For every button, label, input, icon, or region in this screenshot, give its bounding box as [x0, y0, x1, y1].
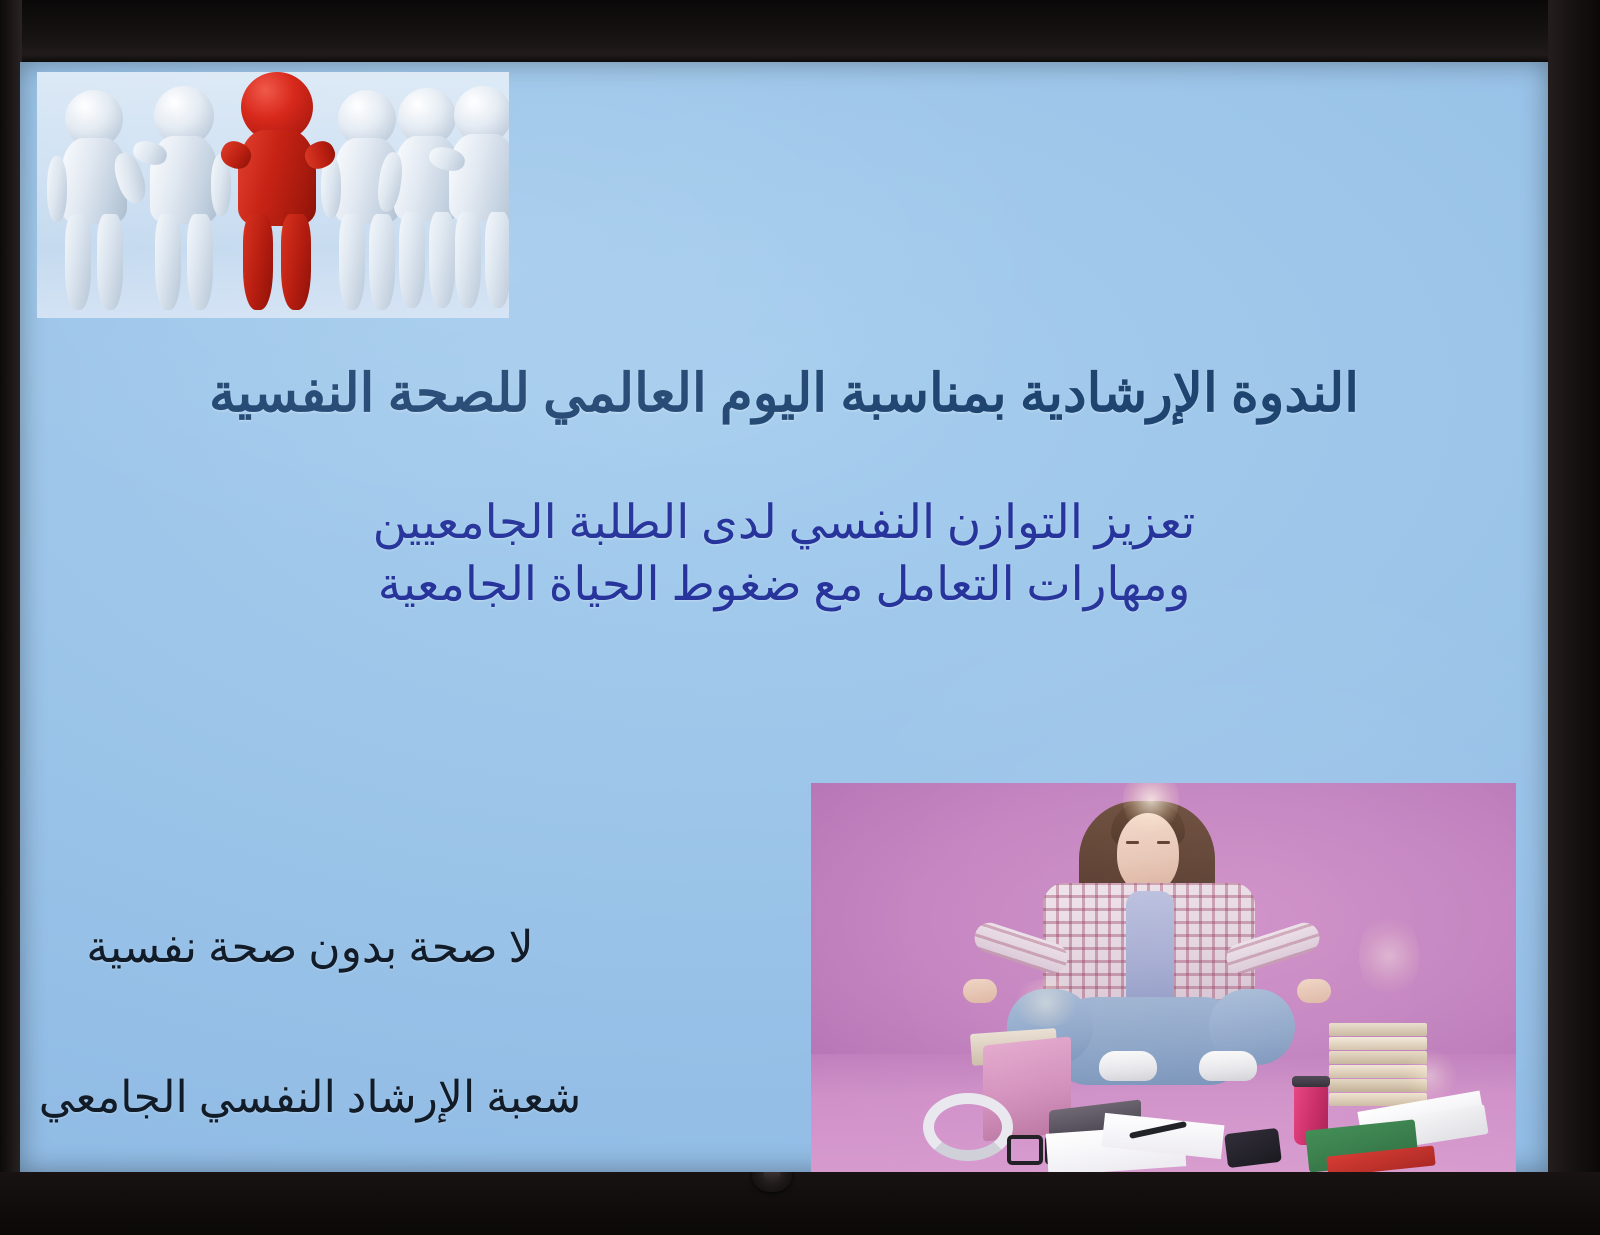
- title-block: الندوة الإرشادية بمناسبة اليوم العالمي ل…: [20, 362, 1548, 427]
- crowd-figure-highlight-red: [227, 72, 327, 312]
- book: [1329, 1037, 1427, 1050]
- book: [1329, 1065, 1427, 1078]
- figure-leg: [65, 214, 91, 310]
- slide-title: الندوة الإرشادية بمناسبة اليوم العالمي ل…: [110, 362, 1458, 427]
- book: [1329, 1079, 1427, 1092]
- subtitle-block: تعزيز التوازن النفسي لدى الطلبة الجامعيي…: [20, 492, 1548, 616]
- figure-torso: [449, 134, 509, 222]
- department-text: شعبة الإرشاد النفسي الجامعي: [20, 1072, 600, 1123]
- figure-leg: [281, 214, 311, 310]
- glasses-lens-left: [1007, 1135, 1043, 1165]
- figure-leg: [399, 212, 425, 308]
- presentation-slide: الندوة الإرشادية بمناسبة اليوم العالمي ل…: [20, 62, 1548, 1172]
- crowd-figure-grey: [441, 86, 509, 312]
- dark-room-background: الندوة الإرشادية بمناسبة اليوم العالمي ل…: [0, 0, 1600, 1235]
- woman-shoe-left: [1099, 1051, 1157, 1081]
- woman-hand-left: [963, 979, 997, 1003]
- screen-bezel-top: [0, 0, 1600, 62]
- woman-face: [1117, 813, 1179, 893]
- woman-eye-right: [1157, 841, 1170, 844]
- crowd-standout-figure-image: [37, 72, 509, 318]
- screen-bezel-right: [1548, 0, 1600, 1235]
- subtitle-line-1: تعزيز التوازن النفسي لدى الطلبة الجامعيي…: [170, 492, 1398, 554]
- subtitle-line-2: ومهارات التعامل مع ضغوط الحياة الجامعية: [170, 554, 1398, 616]
- figure-leg: [339, 214, 365, 310]
- headphones: [923, 1093, 1013, 1161]
- figure-leg: [187, 214, 213, 310]
- woman-eye-left: [1126, 841, 1139, 844]
- book: [1329, 1023, 1427, 1036]
- figure-arm: [47, 156, 67, 222]
- crowd-figure-grey: [141, 86, 227, 312]
- figure-leg: [455, 212, 481, 308]
- books-stack-right: [1329, 1023, 1427, 1111]
- screen-bezel-bottom: [0, 1172, 1600, 1235]
- woman-tank-top: [1126, 891, 1174, 1009]
- slogan-text: لا صحة بدون صحة نفسية: [40, 922, 580, 973]
- figure-leg: [155, 214, 181, 310]
- screen-bezel-left: [0, 0, 22, 1235]
- figure-leg: [485, 212, 509, 308]
- figure-leg: [97, 214, 123, 310]
- figure-torso: [238, 130, 316, 226]
- smartphone: [1224, 1128, 1282, 1168]
- lens-flare: [1359, 913, 1419, 999]
- figure-leg: [243, 214, 273, 310]
- crowd-figure-grey: [51, 90, 137, 312]
- book: [1329, 1051, 1427, 1064]
- student-meditating-photo: [811, 783, 1516, 1172]
- woman-hand-right: [1297, 979, 1331, 1003]
- woman-shoe-right: [1199, 1051, 1257, 1081]
